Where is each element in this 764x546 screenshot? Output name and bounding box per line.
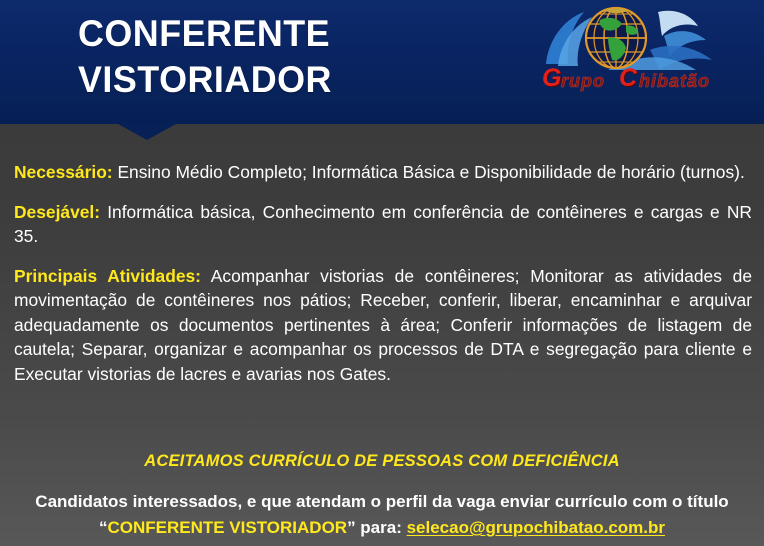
logo-wordmark: G rupo C hibatão: [542, 64, 734, 94]
contact-email-link[interactable]: selecao@grupochibatao.com.br: [407, 518, 665, 537]
poster-footer: ACEITAMOS CURRÍCULO DE PESSOAS COM DEFIC…: [0, 452, 764, 541]
logo-word-grupo: rupo: [561, 71, 605, 92]
pcd-notice: ACEITAMOS CURRÍCULO DE PESSOAS COM DEFIC…: [0, 452, 764, 471]
section-necessario: Necessário: Ensino Médio Completo; Infor…: [14, 160, 752, 185]
logo-initial-g: G: [542, 64, 561, 93]
section-atividades: Principais Atividades: Acompanhar vistor…: [14, 264, 752, 387]
job-posting-poster: CONFERENTE VISTORIADOR: [0, 0, 764, 546]
apply-text-part-2: ” para:: [347, 518, 407, 537]
apply-instructions: Candidatos interessados, e que atendam o…: [0, 489, 764, 541]
section-desejavel-label: Desejável:: [14, 202, 100, 222]
logo-initial-c: C: [619, 64, 637, 93]
section-necessario-text: Ensino Médio Completo; Informática Básic…: [113, 162, 745, 182]
page-title: CONFERENTE VISTORIADOR: [78, 11, 508, 103]
company-logo: G rupo C hibatão: [538, 2, 734, 102]
section-desejavel-text: Informática básica, Conhecimento em conf…: [14, 202, 752, 247]
section-atividades-label: Principais Atividades:: [14, 266, 201, 286]
title-line-2: VISTORIADOR: [78, 57, 495, 103]
logo-globe: [586, 8, 646, 68]
title-line-1: CONFERENTE: [78, 11, 495, 57]
section-desejavel: Desejável: Informática básica, Conhecime…: [14, 200, 752, 249]
requirements-content: Necessário: Ensino Médio Completo; Infor…: [14, 160, 752, 386]
apply-job-title: CONFERENTE VISTORIADOR: [107, 518, 347, 537]
poster-header: CONFERENTE VISTORIADOR: [0, 0, 764, 124]
header-triangle-notch: [118, 124, 176, 140]
section-necessario-label: Necessário:: [14, 162, 113, 182]
logo-word-chibatao: hibatão: [639, 71, 710, 92]
